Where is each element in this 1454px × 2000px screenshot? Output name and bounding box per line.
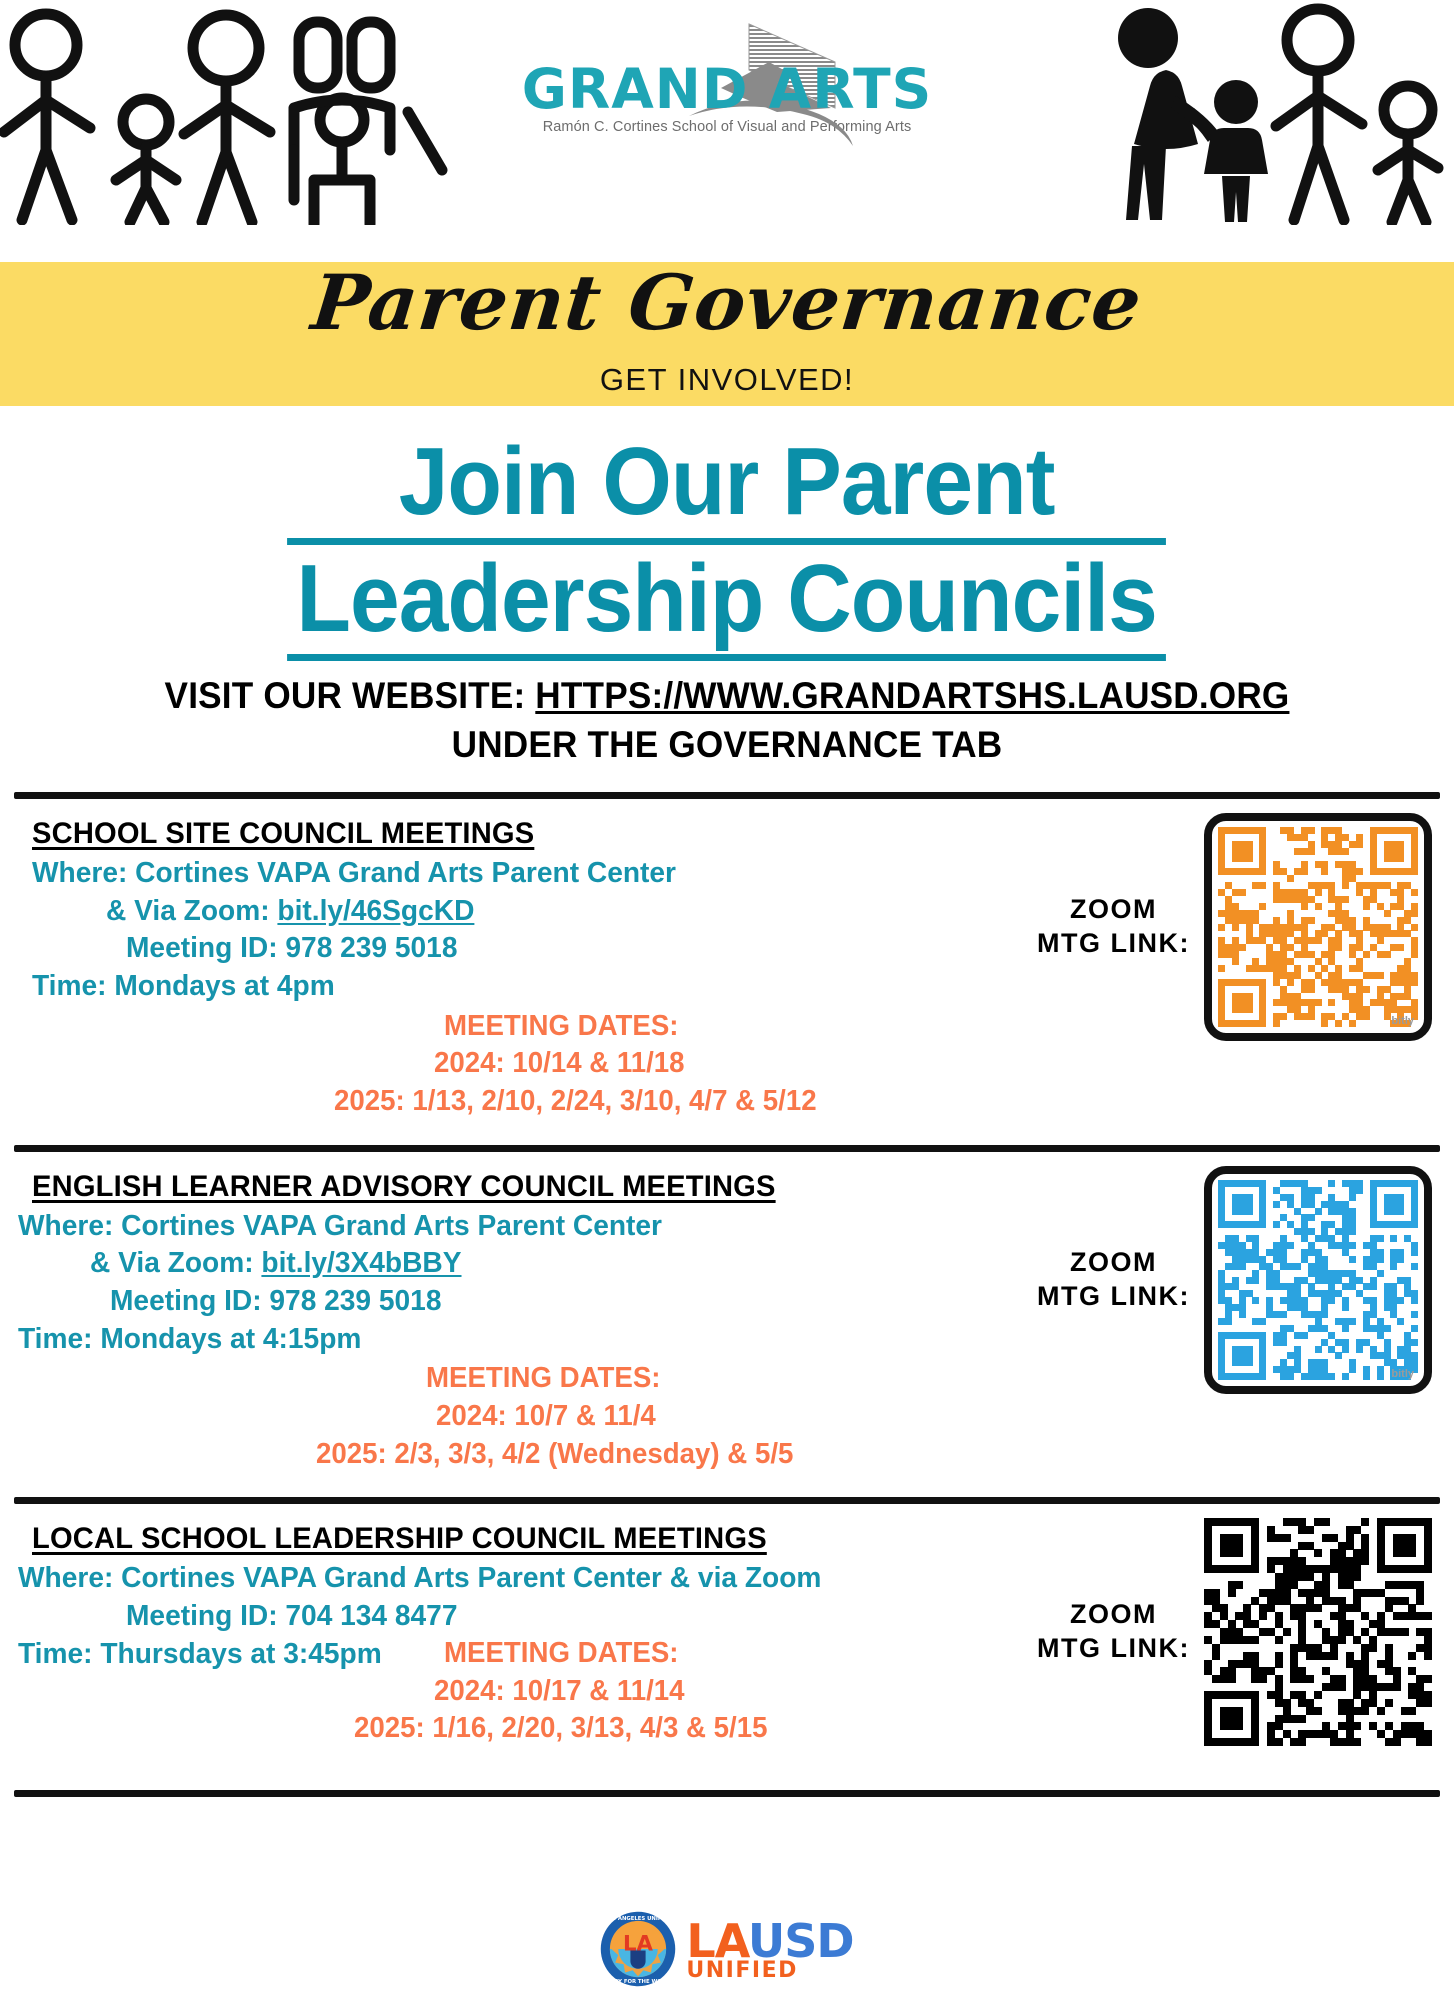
zoom-bitly-link[interactable]: bit.ly/46SgcKD [277,895,474,927]
zoom-label-line1: ZOOM [1037,893,1190,927]
banner-script-title: Parent Governance [0,258,1454,347]
qr-code-local-school-leadership-council[interactable] [1204,1518,1432,1746]
page-title: Join Our Parent Leadership Councils [287,428,1166,661]
via-zoom-label: & Via Zoom: [90,1247,261,1279]
section-local-school-leadership-council: LOCAL SCHOOL LEADERSHIP COUNCIL MEETINGS… [0,1504,1454,1772]
zoom-label-line2: MTG LINK: [1037,1632,1190,1666]
qr-code-english-learner-advisory-council[interactable]: bitly [1204,1166,1432,1394]
dates-2025: 2025: 1/13, 2/10, 2/24, 3/10, 4/7 & 5/12 [334,1083,1407,1121]
zoom-bitly-link[interactable]: bit.ly/3X4bBBY [261,1247,461,1279]
qr-column: ZOOM MTG LINK: bitly [1037,1166,1432,1394]
dates-2024: 2024: 10/14 & 11/18 [434,1045,1410,1083]
yellow-banner: Parent Governance GET INVOLVED! [0,262,1454,406]
dates-2024: 2024: 10/7 & 11/4 [436,1398,1410,1436]
qr-code-school-site-council[interactable]: bitly [1204,813,1432,1041]
bitly-tag: bitly [1391,1368,1414,1380]
zoom-label-line2: MTG LINK: [1037,1280,1190,1314]
qr-column: ZOOM MTG LINK: [1037,1518,1432,1746]
divider-rule [14,1790,1440,1797]
logo-wordmark: GRAND ARTS [517,62,937,117]
qr-column: ZOOM MTG LINK: bitly [1037,813,1432,1041]
banner-subtitle: GET INVOLVED! [0,362,1454,398]
website-line: VISIT OUR WEBSITE: HTTPS://WWW.GRANDARTS… [36,675,1417,717]
flyer-page: GRAND ARTS Ramón C. Cortines School of V… [0,0,1454,2000]
page-title-line1: Join Our Parent [287,428,1166,545]
grand-arts-logo: GRAND ARTS Ramón C. Cortines School of V… [517,62,937,135]
header-band: GRAND ARTS Ramón C. Cortines School of V… [0,0,1454,262]
zoom-link-label: ZOOM MTG LINK: [1037,1598,1190,1666]
lausd-footer: LA LOS ANGELES UNIFIED READY FOR THE WOR… [0,1911,1454,1992]
divider-rule [14,792,1440,799]
family-figures-icon [1090,0,1454,230]
seal-bottom-label: READY FOR THE WORLD [603,1979,675,1985]
divider-rule [14,1145,1440,1152]
page-title-line2: Leadership Councils [287,545,1166,662]
dates-2025: 2025: 2/3, 3/3, 4/2 (Wednesday) & 5/5 [316,1436,1406,1474]
qr-canvas [1204,1518,1432,1746]
zoom-label-line2: MTG LINK: [1037,927,1190,961]
website-prefix: VISIT OUR WEBSITE: [165,675,536,716]
website-url-link[interactable]: HTTPS://WWW.GRANDARTSHS.LAUSD.ORG [535,675,1289,716]
zoom-label-line1: ZOOM [1037,1598,1190,1632]
via-zoom-label: & Via Zoom: [106,895,277,927]
seal-top-label: LOS ANGELES UNIFIED [605,1916,673,1922]
zoom-link-label: ZOOM MTG LINK: [1037,1246,1190,1314]
qr-canvas [1218,1180,1418,1380]
logo-word-arts: ARTS [769,57,933,121]
section-school-site-council: SCHOOL SITE COUNCIL MEETINGS Where: Cort… [0,799,1454,1127]
lausd-wordmark: LAUSD UNIFIED [686,1920,853,1983]
qr-canvas [1218,827,1418,1027]
bitly-tag: bitly [1391,1015,1414,1027]
title-block: Join Our Parent Leadership Councils VISI… [0,406,1454,766]
divider-rule [14,1497,1440,1504]
family-figures-icon [0,0,464,230]
logo-word-grand: GRAND [522,57,749,121]
zoom-label-line1: ZOOM [1037,1246,1190,1280]
lausd-seal-icon: LA LOS ANGELES UNIFIED READY FOR THE WOR… [600,1911,676,1992]
website-note: UNDER THE GOVERNANCE TAB [36,724,1417,766]
section-english-learner-advisory-council: ENGLISH LEARNER ADVISORY COUNCIL MEETING… [0,1152,1454,1480]
zoom-link-label: ZOOM MTG LINK: [1037,893,1190,961]
